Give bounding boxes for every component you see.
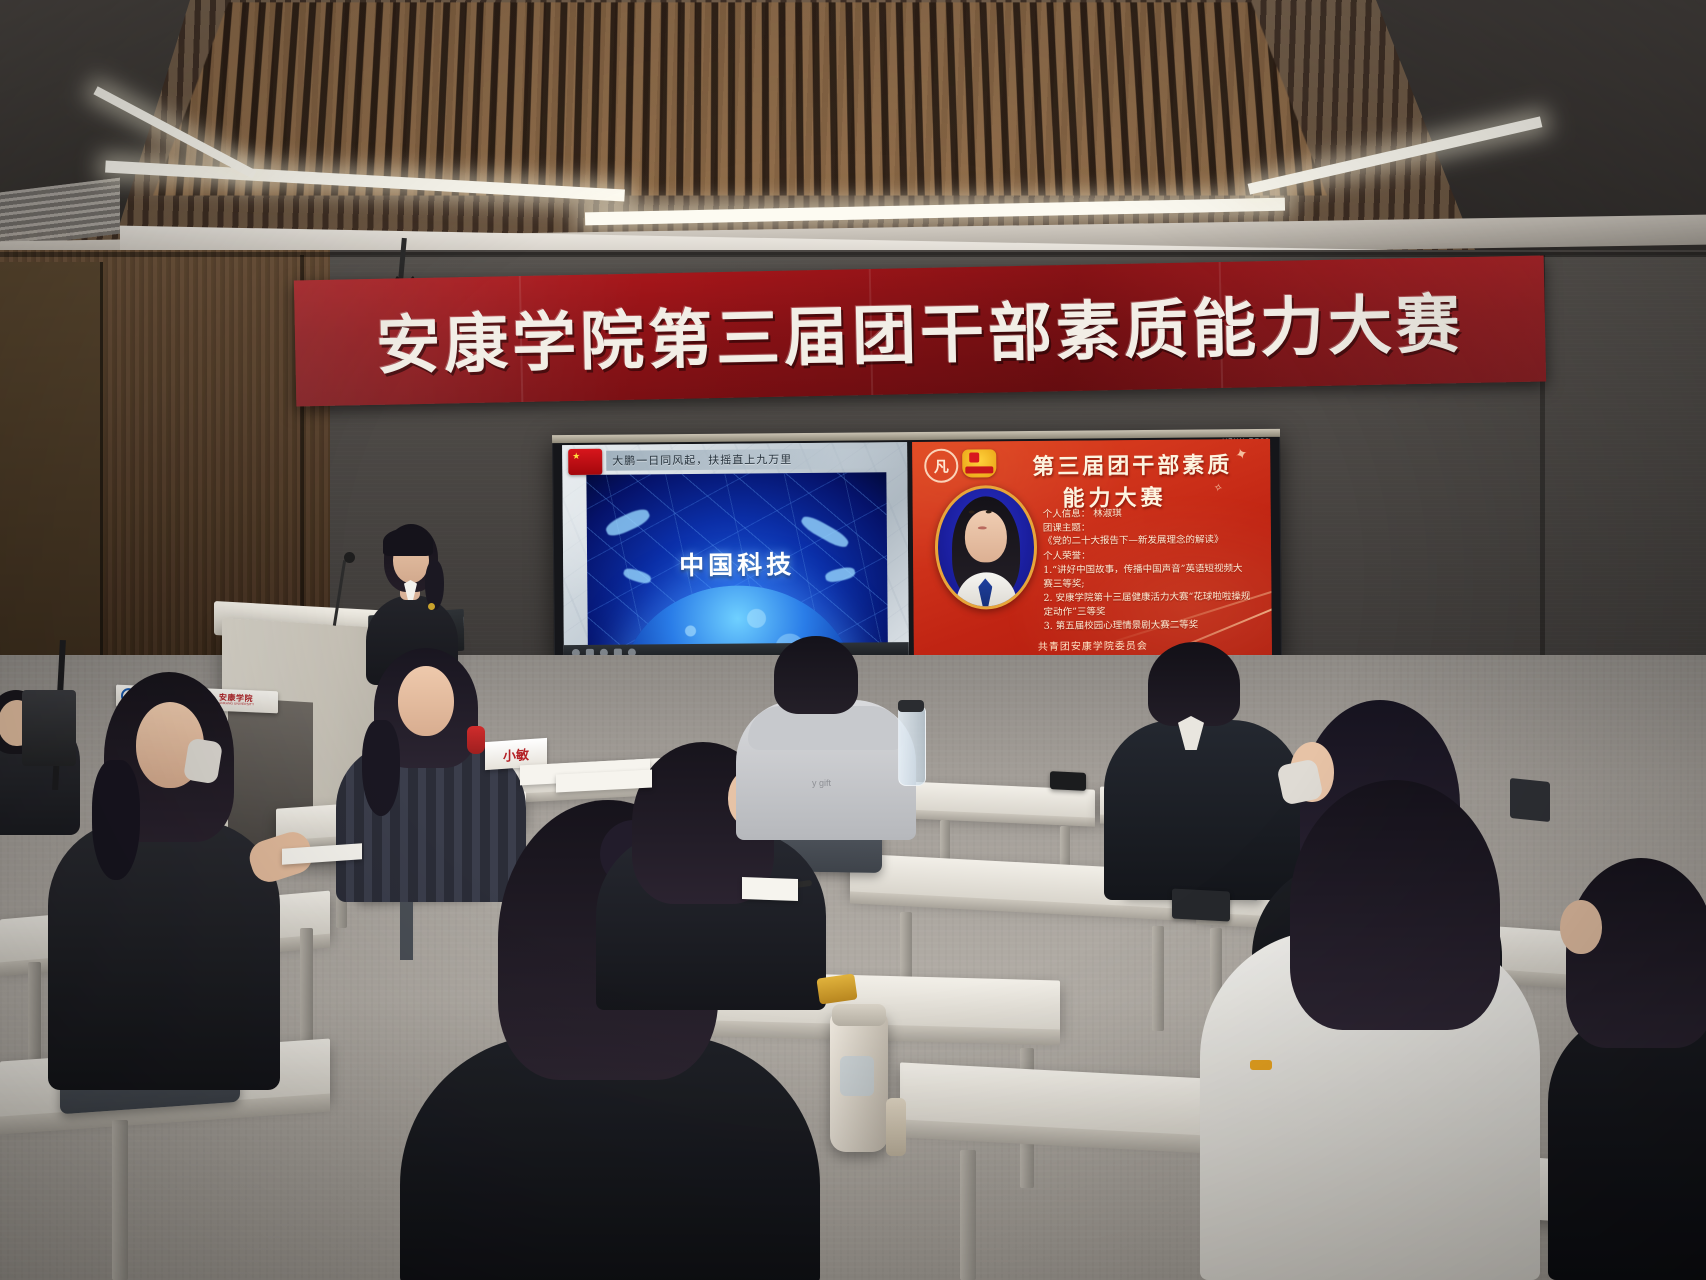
- contestant-portrait-photo: [934, 485, 1037, 610]
- communist-youth-league-badge-icon: [962, 449, 996, 477]
- tablet-on-desk: [1172, 888, 1230, 921]
- profile-line-3: 个人荣誉：: [1043, 550, 1091, 563]
- desk-paper-4: [742, 877, 798, 901]
- profile-line-8: 3. 第五届校园心理情景剧大赛二等奖: [1044, 620, 1199, 634]
- flag-badge-icon: ★: [568, 449, 602, 475]
- interactive-display-panel[interactable]: HZHH-TC00 ★ 大鹏一日同风起，扶摇直上九万里 中国科技 党建堂: [552, 429, 1282, 667]
- university-emblem-icon: 凡: [924, 449, 958, 483]
- event-banner: 安康学院第三届团干部素质能力大赛: [294, 255, 1546, 406]
- podium-microphone-head: [344, 552, 355, 563]
- right-slide-title-line1: 第三届团干部素质: [1032, 447, 1264, 481]
- water-bottle-red-cap: [467, 726, 485, 754]
- profile-line-1: 团课主题：: [1043, 522, 1091, 535]
- small-yellow-item: [1250, 1060, 1272, 1070]
- profile-line-2: 《党的二十大报告下—新发展理念的解读》: [1043, 534, 1224, 548]
- slide-header-text: 大鹏一日同风起，扶摇直上九万里: [612, 451, 792, 469]
- wall-top-seam: [0, 252, 1706, 257]
- school-name-en: ANKANG UNIVERSITY: [219, 702, 254, 707]
- screenshot-scene: 安康学院第三届团干部素质能力大赛 HZHH-TC00 ★ 大鹏一日同风起，扶摇直…: [0, 0, 1706, 1280]
- profile-line-5: 赛三等奖;: [1043, 579, 1084, 592]
- profile-line-7: 定动作”三等奖: [1044, 606, 1106, 619]
- snack-package: [816, 973, 857, 1004]
- side-door: [0, 262, 103, 672]
- ceiling-center-wood-panel: [141, 2, 1339, 195]
- profile-line-4: 1.“讲好中国故事，传播中国声音”英语短视频大: [1043, 563, 1242, 577]
- nameplate-text: 小敏: [503, 744, 529, 765]
- slide-header-strip: 大鹏一日同风起，扶摇直上九万里: [606, 448, 901, 471]
- ceiling: [0, 0, 1706, 250]
- banner-title-text: 安康学院第三届团干部素质能力大赛: [294, 271, 1546, 388]
- smartphone-on-desk: [1050, 771, 1086, 791]
- left-screen-video-slide[interactable]: ★ 大鹏一日同风起，扶摇直上九万里 中国科技 党建堂 中国科技: [562, 442, 909, 661]
- embedded-video[interactable]: 中国科技 党建堂 中国科技: [586, 472, 888, 661]
- monitor-far-right: [1510, 778, 1550, 822]
- profile-line-6: 2. 安康学院第十三届健康活力大赛“花球啦啦操规: [1043, 591, 1250, 605]
- av-equipment-box: [22, 690, 76, 766]
- video-title-text: 中国科技: [587, 544, 887, 583]
- profile-line-0: 个人信息： 林淑琪: [1043, 508, 1122, 521]
- water-bottle-clear: [898, 706, 926, 786]
- right-screen-profile-slide[interactable]: ✦ ✧ 凡 第三届团干部素质 能力大赛 个人信息： 林淑琪 团课主题： 《党的二…: [912, 439, 1272, 658]
